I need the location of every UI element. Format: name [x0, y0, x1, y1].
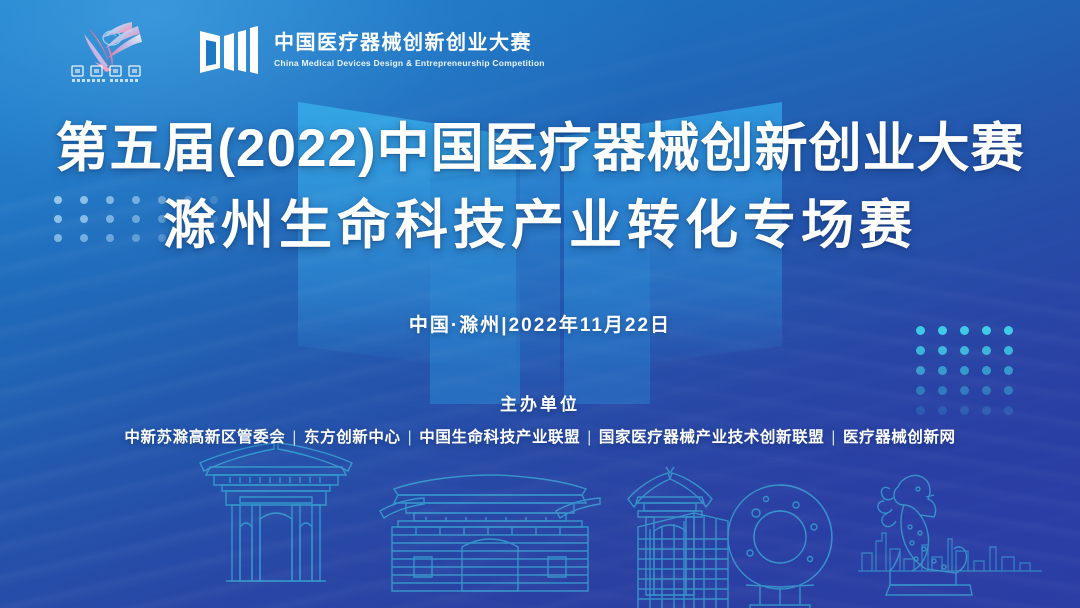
poster-title-line1: 第五届(2022)中国医疗器械创新创业大赛: [0, 118, 1080, 180]
poster-content: 第五届(2022)中国医疗器械创新创业大赛 滁州生命科技产业转化专场赛 中国·滁…: [0, 0, 1080, 608]
hosts-list: 中新苏滁高新区管委会|东方创新中心|中国生命科技产业联盟|国家医疗器械产业技术创…: [0, 425, 1080, 447]
host-item: 东方创新中心: [304, 429, 401, 446]
poster-title-line2: 滁州生命科技产业转化专场赛: [0, 195, 1080, 257]
hosts-separator: |: [401, 429, 420, 446]
hosts-separator: |: [824, 429, 843, 446]
hosts-separator: |: [285, 429, 304, 446]
hosts-heading: 主办单位: [0, 390, 1080, 415]
hosts-separator: |: [580, 429, 599, 446]
host-item: 中新苏滁高新区管委会: [124, 429, 285, 446]
host-item: 中国生命科技产业联盟: [419, 429, 580, 446]
host-item: 医疗器械创新网: [843, 429, 956, 446]
host-item: 国家医疗器械产业技术创新联盟: [599, 429, 824, 446]
poster-canvas: 中国医疗器械创新创业大赛 China Medical Devices Desig…: [0, 0, 1080, 608]
poster-location-date: 中国·滁州|2022年11月22日: [0, 310, 1080, 337]
